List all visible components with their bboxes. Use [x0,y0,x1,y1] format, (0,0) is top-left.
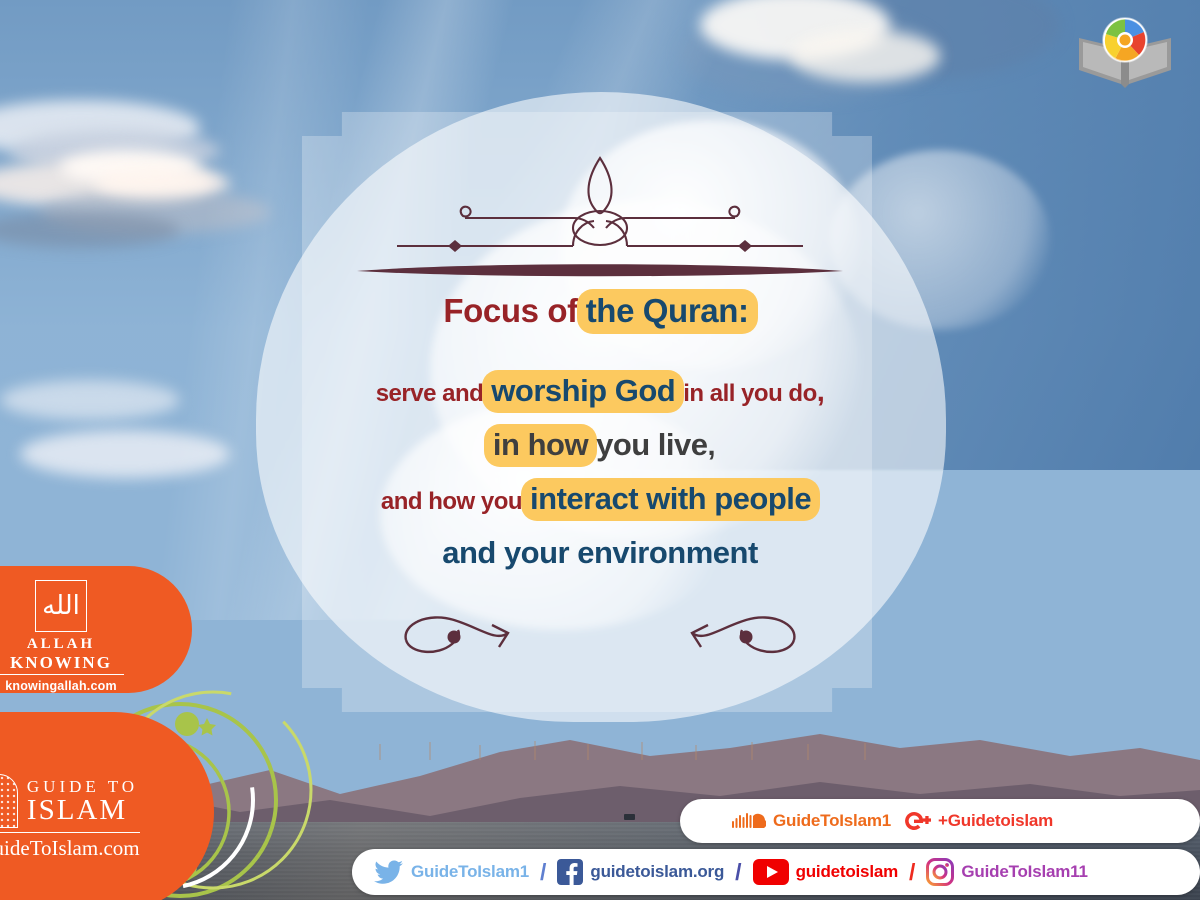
social-label-facebook[interactable]: guidetoislam.org [590,862,724,882]
quote-line3-post: you live [596,427,707,462]
social-item-twitter[interactable]: GuideToIslam1 [374,860,529,884]
facebook-icon[interactable] [557,859,583,885]
social-item-googleplus[interactable]: +Guidetoislam [903,810,1053,832]
wind-turbines [360,730,920,760]
quote-line2-comma: , [817,376,825,408]
social-separator-2: / [735,859,741,886]
youtube-icon[interactable] [753,859,789,885]
quote-line1-plain: Focus of [443,292,577,329]
soundcloud-icon[interactable] [732,811,766,831]
quote-text-block: Focus ofthe Quran: serve andworship Godi… [270,294,930,590]
guide-to-islam-url[interactable]: GuideToIslam.com [0,832,140,861]
open-book-globe-logo[interactable] [1073,12,1177,90]
quote-line-4: and how youinteract with people [270,483,930,515]
social-label-googleplus[interactable]: +Guidetoislam [938,811,1053,831]
guide-to-islam-title-line2: ISLAM [27,797,138,825]
allah-calligraphy-icon: الله [35,580,87,632]
cloud-left-9 [20,430,230,478]
social-item-youtube[interactable]: guidetoislam [753,859,898,885]
bottom-flourish-ornaments [380,600,820,670]
knowing-allah-title-line2: KNOWING [0,653,124,675]
right-flourish-dot [740,631,753,644]
social-item-instagram[interactable]: GuideToIslam11 [926,858,1087,886]
social-bar-top: GuideToIslam1 +Guidetoislam [680,799,1200,843]
social-label-instagram[interactable]: GuideToIslam11 [961,862,1087,882]
cloud-bright-topright-2 [790,30,940,82]
social-label-twitter[interactable]: GuideToIslam1 [411,862,529,882]
social-bar-bottom: GuideToIslam1 / guidetoislam.org / guide… [352,849,1200,895]
cloud-left-8 [0,380,180,420]
social-item-soundcloud[interactable]: GuideToIslam1 [732,811,891,831]
quote-line4-highlight: interact with people [521,478,820,521]
mosque-arch-icon [0,774,18,828]
social-label-youtube[interactable]: guidetoislam [796,862,898,882]
guide-to-islam-logo-row: GUIDE TO ISLAM [0,774,214,828]
google-plus-icon[interactable] [903,810,931,832]
guide-to-islam-badge[interactable]: GUIDE TO ISLAM GuideToIslam.com [0,712,214,900]
left-flourish-dot [448,631,461,644]
boat-silhouette [624,814,635,820]
quote-line-1: Focus ofthe Quran: [270,294,930,327]
poster-canvas: Focus ofthe Quran: serve andworship Godi… [0,0,1200,900]
quote-line2-highlight: worship God [482,370,684,413]
quote-line-3: in howyou live, [270,429,930,461]
knowing-allah-title-line1: ALLAH [0,636,192,653]
quote-line2-post: in all you do [683,380,817,407]
quote-line1-highlight: the Quran: [577,289,758,334]
floral-divider-ornament [345,136,855,286]
quote-line3-highlight: in how [484,424,597,467]
instagram-icon[interactable] [926,858,954,886]
quote-line-2: serve andworship Godin all you do, [270,375,930,407]
social-item-facebook[interactable]: guidetoislam.org [557,859,724,885]
quote-line-5: and your environment [270,537,930,568]
quote-line3-comma: , [708,430,716,462]
social-separator-1: / [540,859,546,886]
social-label-soundcloud[interactable]: GuideToIslam1 [773,811,891,831]
quote-card: Focus ofthe Quran: serve andworship Godi… [230,88,970,728]
quote-line4-pre: and how you [381,488,522,515]
twitter-icon[interactable] [374,860,404,884]
social-separator-3: / [909,859,915,886]
knowing-allah-badge[interactable]: الله ALLAH KNOWING knowingallah.com [0,566,192,693]
cloud-left-7 [95,168,215,198]
knowing-allah-url[interactable]: knowingallah.com [0,679,192,693]
quote-line2-pre: serve and [376,380,484,407]
